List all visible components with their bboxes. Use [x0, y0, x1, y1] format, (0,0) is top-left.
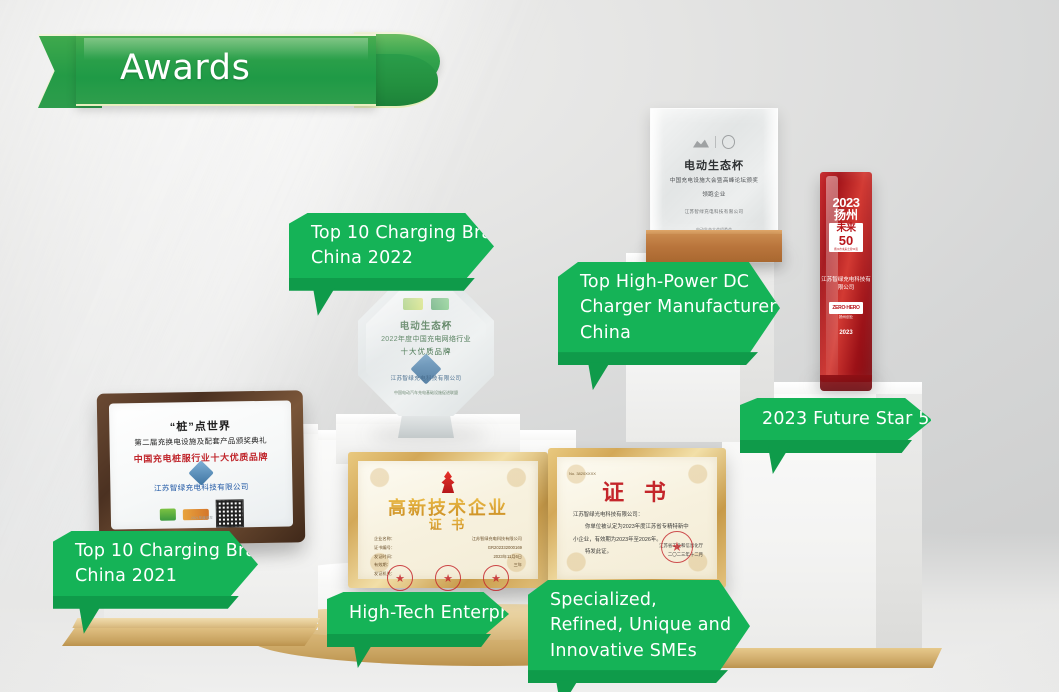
background-vignette: [0, 0, 1059, 692]
awards-poster: 电动生态杯 中国充电设施大会暨高峰论坛颁奖 领跑企业 江苏智绿充电科技有限公司 …: [0, 0, 1059, 692]
